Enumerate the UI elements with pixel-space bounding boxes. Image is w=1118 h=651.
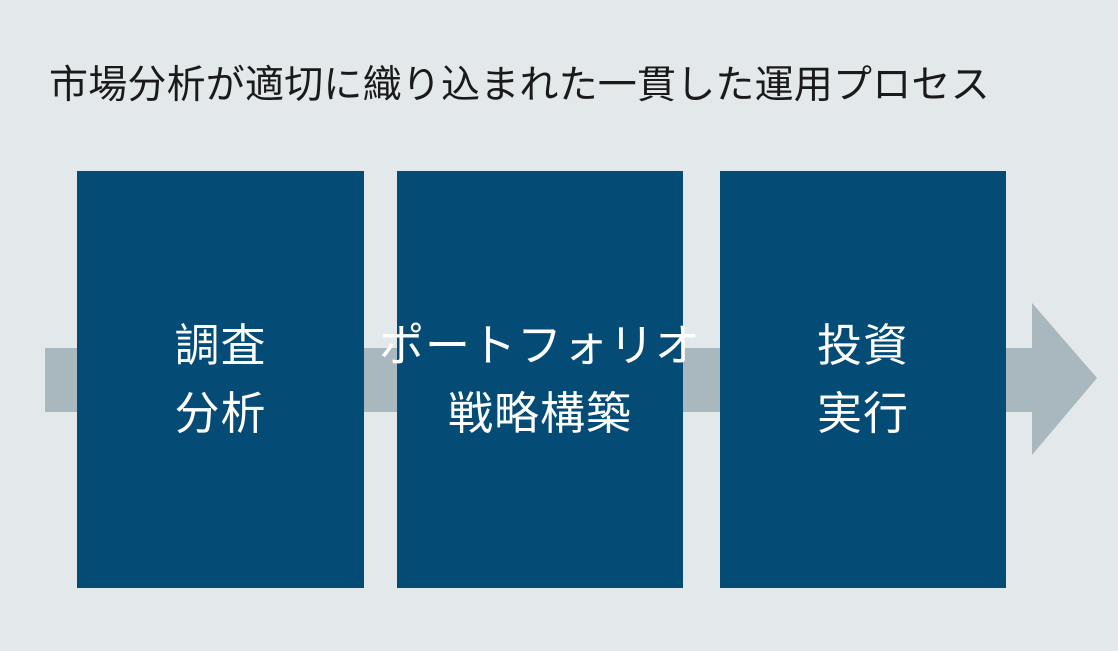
process-stage-1-line-2: 分析: [174, 381, 266, 447]
slide-canvas: 市場分析が適切に織り込まれた一貫した運用プロセス 調査 分析 ポートフォリオ 戦…: [0, 0, 1118, 651]
process-stage-2-line-2: 戦略構築: [448, 381, 632, 447]
process-stage-3-line-2: 実行: [817, 381, 909, 447]
process-stage-1[interactable]: 調査 分析: [77, 171, 364, 588]
process-stage-3-line-1: 投資: [817, 313, 909, 379]
process-stage-2[interactable]: ポートフォリオ 戦略構築: [397, 171, 683, 588]
process-stage-1-line-1: 調査: [174, 313, 266, 379]
page-title: 市場分析が適切に織り込まれた一貫した運用プロセス: [49, 62, 1089, 110]
process-stage-2-line-1: ポートフォリオ: [379, 313, 701, 379]
process-stage-3[interactable]: 投資 実行: [720, 171, 1006, 588]
